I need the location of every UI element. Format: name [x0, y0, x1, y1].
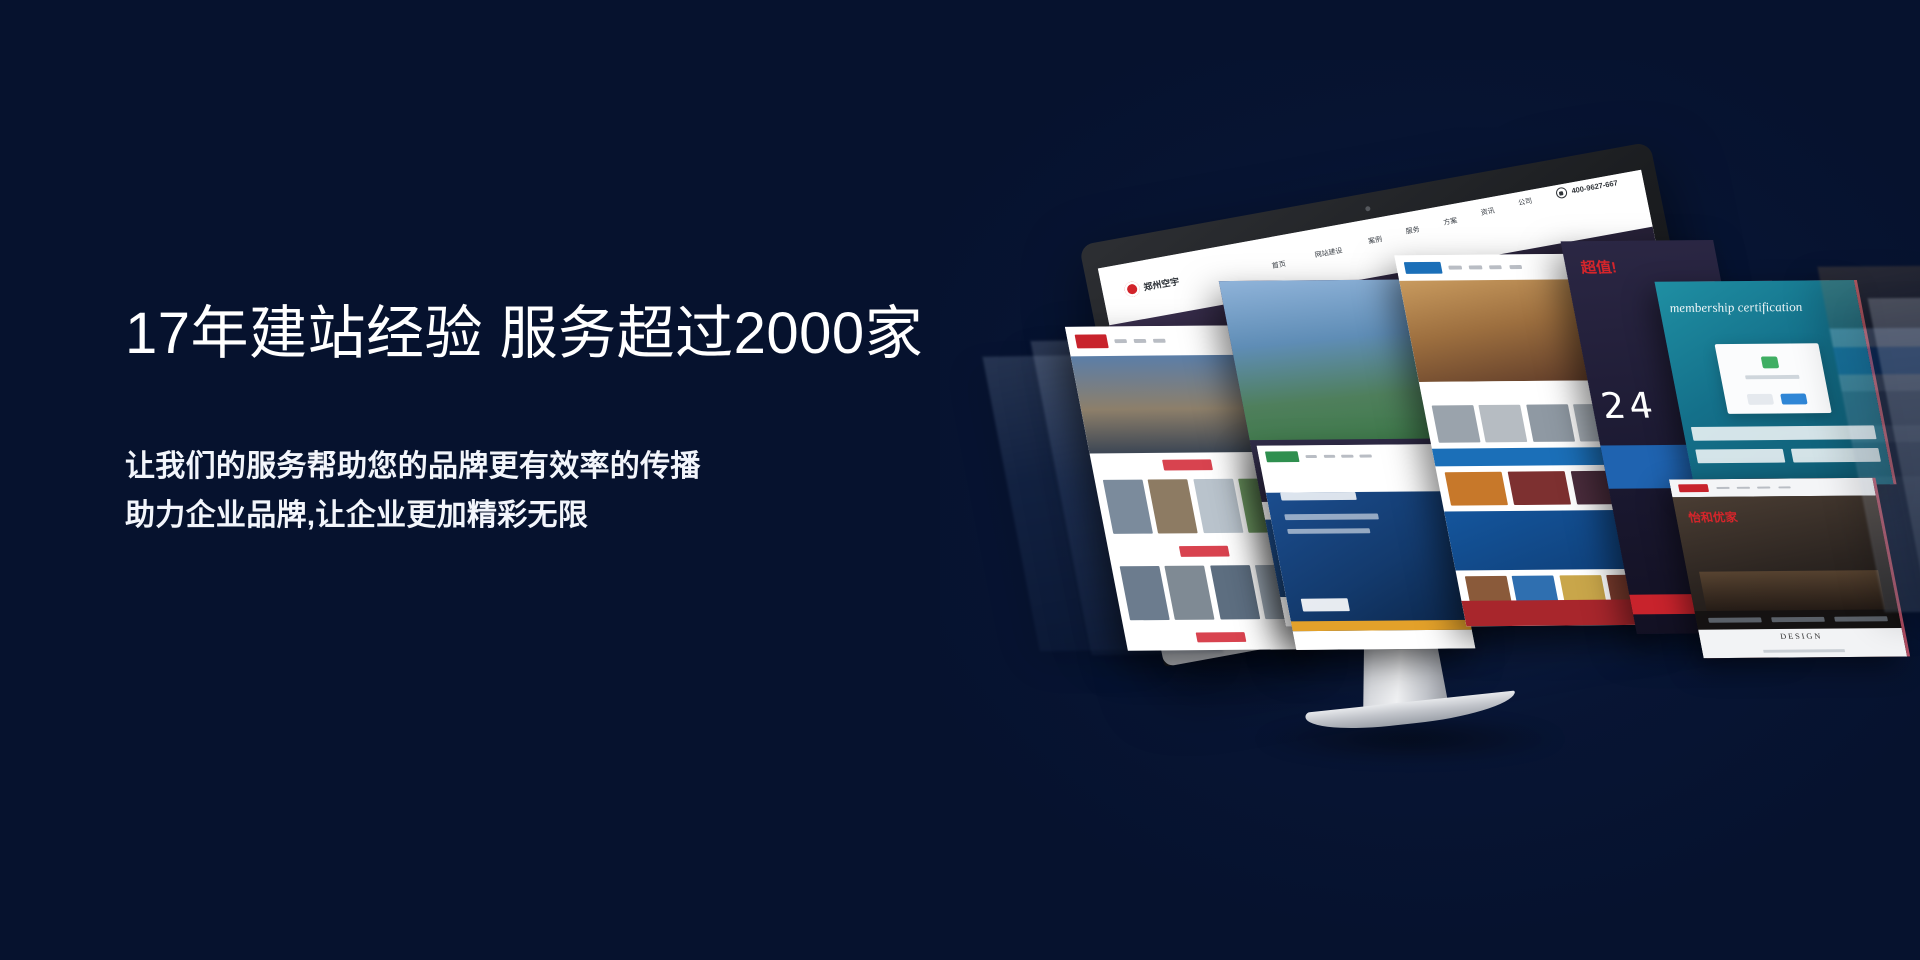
hero-subtitle: 让我们的服务帮助您的品牌更有效率的传播 助力企业品牌,让企业更加精彩无限	[125, 443, 1125, 540]
phone-icon	[1555, 187, 1568, 200]
hero-copy: 17年建站经验 服务超过2000家 让我们的服务帮助您的品牌更有效率的传播 助力…	[125, 300, 1125, 540]
subtitle-line-2: 助力企业品牌,让企业更加精彩无限	[125, 492, 1125, 541]
ghost-pane-3	[1817, 266, 1920, 613]
hero-banner: 17年建站经验 服务超过2000家 让我们的服务帮助您的品牌更有效率的传播 助力…	[0, 0, 1920, 960]
pane-footer: DESIGN	[1698, 628, 1907, 658]
pane-cert-modal	[1715, 344, 1832, 414]
pane-footer-mark: DESIGN	[1779, 632, 1823, 641]
page-title: 17年建站经验 服务超过2000家	[125, 300, 1125, 367]
pane-cert-title: membership certification	[1668, 299, 1804, 316]
monitor: 郑州空宇 首页 网站建设 案例 服务 方案 资讯 公司 400-9627-667	[1079, 142, 1736, 667]
check-icon	[1760, 356, 1779, 369]
device-showcase: 郑州空宇 首页 网站建设 案例 服务 方案 资讯 公司 400-9627-667	[1040, 175, 1920, 855]
ghost-pane-4	[1868, 297, 1920, 602]
subtitle-line-1: 让我们的服务帮助您的品牌更有效率的传播	[125, 443, 1125, 492]
logo-icon	[1123, 280, 1141, 297]
brand-logo-icon	[1433, 572, 1455, 597]
